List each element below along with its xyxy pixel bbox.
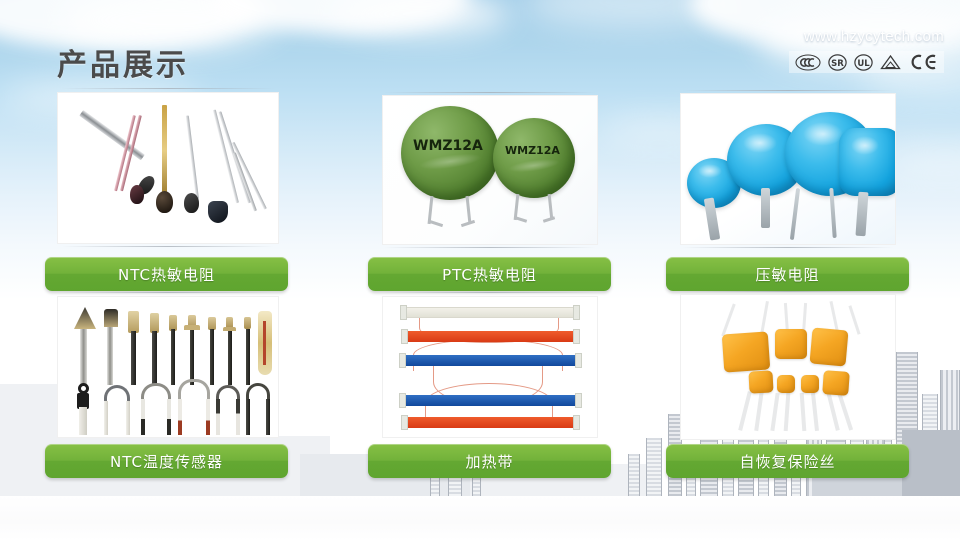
sensor-body <box>216 399 220 435</box>
card-top-rule <box>682 291 894 292</box>
sensor-gold-capsule-stripe <box>263 321 266 365</box>
ptc-lead <box>543 216 555 223</box>
belt-end-cap <box>573 305 580 320</box>
belt-end-cap <box>575 393 582 408</box>
sensor-body <box>266 399 270 435</box>
product-photo-resettable-fuse <box>680 294 896 440</box>
sensor-tip <box>244 317 251 329</box>
belt-end-cap <box>573 415 580 430</box>
building-tower <box>628 454 640 500</box>
ptc-lead <box>461 220 475 227</box>
sensor-body <box>171 329 175 385</box>
belt-end-cap <box>399 353 406 368</box>
sensor-body <box>126 401 130 435</box>
heating-belt-blue <box>405 395 577 406</box>
sensor-tip <box>74 307 96 329</box>
belt-end-cap <box>401 329 408 344</box>
csa-certification-icon: SR <box>828 54 847 71</box>
thermistor-lead <box>186 115 199 199</box>
ptc-disc-small <box>493 118 575 198</box>
ul-certification-icon: UL <box>854 54 873 71</box>
fuse-body-large <box>722 331 771 372</box>
fuse-lead <box>738 391 752 431</box>
sensor-body <box>131 331 136 385</box>
product-photo-varistor <box>680 93 896 245</box>
card-bottom-rule <box>384 247 596 248</box>
sensor-body <box>246 329 250 385</box>
varistor-square <box>839 128 896 196</box>
ptc-lead <box>515 216 527 223</box>
belt-end-cap <box>400 305 407 320</box>
site-url-watermark: www.hzycytech.com <box>804 28 944 45</box>
thermistor-bead <box>130 185 144 204</box>
sensor-tip <box>128 311 139 333</box>
varistor-lead <box>761 188 770 228</box>
product-label-varistor[interactable]: 压敏电阻 <box>666 257 909 291</box>
fuse-lead <box>754 391 764 431</box>
fuse-lead <box>784 393 791 431</box>
fuse-body-small <box>822 370 850 396</box>
product-label-resettable-fuse[interactable]: 自恢复保险丝 <box>666 444 909 478</box>
sensor-body <box>178 399 182 435</box>
sensor-body <box>236 399 240 435</box>
varistor-lead <box>790 188 800 240</box>
svg-text:SR: SR <box>831 59 844 69</box>
product-photo-ntc-temperature-sensor <box>57 296 279 438</box>
product-photo-ptc-thermistor: WMZ12A WMZ12A <box>382 95 598 245</box>
fuse-body-small <box>748 370 773 393</box>
thermistor-bead <box>184 193 199 213</box>
svg-text:UL: UL <box>857 59 870 69</box>
sensor-body <box>79 407 87 435</box>
card-bottom-rule <box>682 247 894 248</box>
tuv-triangle-certification-icon <box>880 54 901 71</box>
belt-end-cap <box>575 353 582 368</box>
fuse-body-small <box>777 375 795 393</box>
belt-end-cap <box>399 393 406 408</box>
belt-end-cap <box>401 415 408 430</box>
thermistor-bead <box>208 201 228 223</box>
product-label-ptc-thermistor[interactable]: PTC热敏电阻 <box>368 257 611 291</box>
card-top-rule <box>62 292 274 293</box>
fuse-lead <box>837 391 853 430</box>
card-top-rule <box>384 292 596 293</box>
ground-plane <box>0 496 960 540</box>
sensor-body <box>107 327 113 385</box>
fuse-lead <box>770 393 779 431</box>
product-label-ntc-temperature-sensor[interactable]: NTC温度传感器 <box>45 444 288 478</box>
ce-certification-icon <box>908 53 938 71</box>
ptc-part-marking: WMZ12A <box>505 144 560 157</box>
fuse-lead <box>721 304 735 337</box>
building-block <box>902 430 960 500</box>
sensor-u-probe <box>178 379 210 401</box>
sensor-tip <box>104 309 118 327</box>
ptc-lead <box>429 220 443 227</box>
card-top-rule <box>62 88 274 89</box>
sensor-body <box>190 330 194 385</box>
ptc-part-marking: WMZ12A <box>413 138 483 154</box>
certification-logo-group: SR UL <box>789 51 944 73</box>
heating-belt-red <box>407 331 575 342</box>
card-top-rule <box>384 92 596 93</box>
product-label-ntc-thermistor[interactable]: NTC热敏电阻 <box>45 257 288 291</box>
sensor-body <box>80 329 87 385</box>
heating-belt-blue <box>405 355 577 366</box>
thermistor-lead <box>162 105 167 197</box>
fuse-lead <box>848 305 860 334</box>
fuse-lead <box>800 393 807 431</box>
slide-canvas: 产品展示 www.hzycytech.com SR UL <box>0 0 960 540</box>
product-label-heating-belt[interactable]: 加热带 <box>368 444 611 478</box>
varistor-lead <box>855 192 868 237</box>
sensor-tip <box>150 313 159 333</box>
sensor-body <box>104 401 108 435</box>
fuse-body-small <box>801 375 819 393</box>
card-bottom-rule <box>62 246 274 247</box>
sensor-body <box>141 399 145 435</box>
sensor-body <box>152 331 157 385</box>
product-photo-ntc-thermistor <box>57 92 279 244</box>
belt-end-cap <box>573 329 580 344</box>
ccc-certification-icon <box>795 54 821 71</box>
card-top-rule <box>682 90 894 91</box>
sensor-body <box>210 329 214 385</box>
page-title: 产品展示 <box>57 40 189 84</box>
product-photo-heating-belt <box>382 296 598 438</box>
fuse-body-medium <box>775 329 807 359</box>
sensor-body <box>206 399 210 435</box>
heating-belt-white <box>405 307 575 318</box>
fuse-lead <box>760 301 769 335</box>
thermistor-bead <box>156 191 173 213</box>
heating-belt-red <box>407 417 575 428</box>
fuse-body-medium <box>809 327 848 366</box>
sensor-body <box>246 399 250 435</box>
sensor-body <box>167 399 171 435</box>
building-tower <box>646 438 662 500</box>
sensor-body <box>228 331 232 385</box>
fuse-lead <box>811 393 819 431</box>
